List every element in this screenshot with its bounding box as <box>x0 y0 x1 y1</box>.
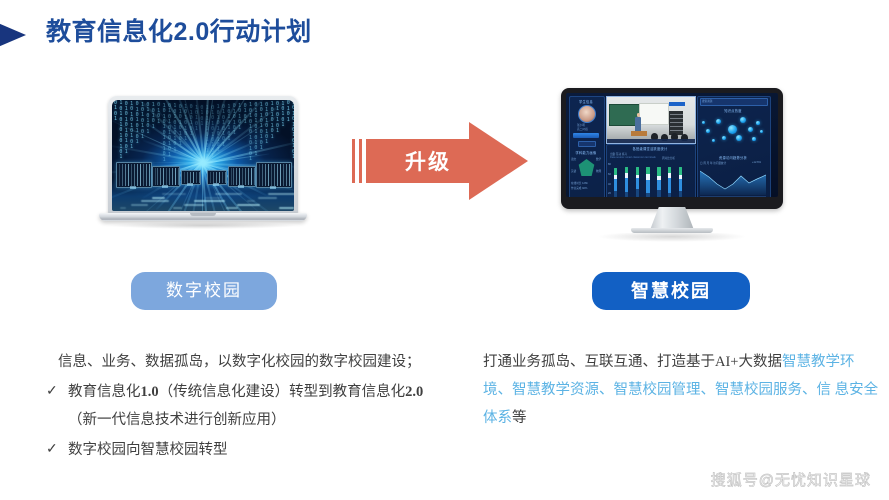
floor-streak <box>258 197 277 199</box>
mini-monitor-stand <box>238 185 244 188</box>
bubble-node <box>748 127 753 132</box>
floor-streak <box>120 207 126 209</box>
digit-column: 0 1 0 1 <box>113 101 118 123</box>
smart-campus-dashboard: 学生信息 张小明 高二(3)班 学科能力画像 语文 数学 英语 物理 在线时长 … <box>566 93 778 197</box>
left-description-block: 信息、业务、数据孤岛，以数字化校园的数字校园建设； ✓ 教育信息化1.0（传统信… <box>40 348 452 464</box>
right-tail-text: 等 <box>512 410 527 426</box>
digit-column: 1 0 1 0 1 <box>280 102 285 129</box>
stats-panel-title: 各班级课堂活跃度统计 <box>606 146 694 151</box>
bubble-node <box>740 117 746 123</box>
video-control-bar[interactable] <box>607 139 695 143</box>
video-desk <box>631 131 647 136</box>
stacked-bar <box>679 167 682 197</box>
bubble-node <box>706 129 710 133</box>
right-plain-text: 打通业务孤岛、互联互通、打造基于AI+大数据 <box>483 354 782 370</box>
bullet-1-part2: （传统信息化建设）转型到教育信息化 <box>159 384 406 400</box>
avatar-class-label: 高二(3)班 <box>577 127 588 131</box>
trend-area-chart <box>700 167 766 195</box>
trend-area-svg <box>700 167 766 195</box>
video-teacher-head <box>637 113 641 117</box>
stacked-bar <box>625 167 628 197</box>
monitor-device-smart-campus: 学生信息 张小明 高二(3)班 学科能力画像 语文 数学 英语 物理 在线时长 … <box>561 88 783 236</box>
video-equipment-rack <box>669 111 683 135</box>
laptop-lid: 0 1 0 1 1 0 1 0 1 0 1 0 1 0 1 0 1 0 1 0 … <box>108 96 298 215</box>
check-icon: ✓ <box>46 436 58 464</box>
mini-monitor-stand <box>213 183 219 186</box>
monitor-bezel: 学生信息 张小明 高二(3)班 学科能力画像 语文 数学 英语 物理 在线时长 … <box>561 88 783 209</box>
bullet-2-text: 数字校园向智慧校园转型 <box>68 442 228 458</box>
bubble-node <box>712 139 715 142</box>
page-title: 教育信息化2.0行动计划 <box>46 12 312 48</box>
bubble-chart-title: 知识点热度 <box>697 108 769 113</box>
mini-monitor-stand <box>162 185 168 188</box>
upgrade-arrow: 升级 <box>352 122 528 200</box>
label-smart-campus: 智慧校园 <box>592 272 750 310</box>
digit-column: 1 0 1 0 1 0 1 0 1 0 1 <box>291 101 294 160</box>
left-panel-secondary-button[interactable] <box>578 141 596 147</box>
screen-mini-monitor <box>152 166 180 187</box>
bubble-node <box>760 130 763 133</box>
screen-mini-monitor <box>116 162 152 188</box>
stats-axis-tick-1: 80 <box>608 163 611 166</box>
bubble-node <box>716 119 721 124</box>
arrow-stripe-1 <box>352 139 355 183</box>
stats-side-label: 周对比分析 <box>662 156 675 160</box>
laptop-device-digital-campus: 0 1 0 1 1 0 1 0 1 0 1 0 1 0 1 0 1 0 1 0 … <box>99 96 307 227</box>
mini-monitor-stand <box>270 186 276 189</box>
slide-title-bar: 教育信息化2.0行动计划 <box>0 12 889 58</box>
bubble-node <box>736 135 742 141</box>
digit-column: 1 0 1 0 1 0 1 0 1 0 1 <box>118 101 123 160</box>
avatar <box>578 105 596 123</box>
classroom-video-feed[interactable] <box>606 96 696 144</box>
video-teacher-body <box>635 117 641 131</box>
trend-legend: 日 周 月 年 访问量统计 <box>700 161 726 165</box>
stacked-bar <box>614 168 617 197</box>
search-placeholder: 搜索资源 <box>702 99 712 103</box>
radar-axis-label-right: 数学 <box>596 157 601 161</box>
trend-axis-x <box>700 196 766 197</box>
screen-mini-monitor <box>256 162 292 188</box>
check-icon: ✓ <box>46 378 58 406</box>
laptop-screen-artwork: 0 1 0 1 1 0 1 0 1 0 1 0 1 0 1 0 1 0 1 0 … <box>112 100 294 211</box>
title-arrow-icon <box>0 17 26 53</box>
digit-column: 0 1 0 1 <box>286 101 291 123</box>
floor-streak <box>131 204 148 206</box>
floor-streak <box>152 197 165 199</box>
arrow-head <box>469 122 528 200</box>
video-overlay-tag <box>669 102 685 106</box>
floor-streak <box>173 207 182 209</box>
radar-axis-label-bottom-right: 物理 <box>596 169 601 173</box>
trend-chart-title: 资源访问趋势分析 <box>697 155 769 160</box>
floor-streak <box>184 204 204 206</box>
bubble-node <box>728 125 737 134</box>
bubble-node <box>756 121 760 125</box>
bubble-node <box>752 137 756 141</box>
trend-value: +12.6% <box>752 161 761 164</box>
stacked-bar <box>646 167 649 197</box>
floor-streak <box>247 200 255 202</box>
radar-axis-label-bottom-left: 英语 <box>571 169 576 173</box>
left-panel-primary-button[interactable] <box>573 133 599 138</box>
mini-monitor-stand <box>187 183 193 186</box>
stats-subtitle: Data source: smart classroom terminals <box>610 156 656 159</box>
left-panel-title: 学生信息 <box>569 99 603 104</box>
laptop-shadow <box>111 222 295 229</box>
monitor-stand <box>650 207 694 230</box>
digit-column: 0 1 0 1 0 1 0 1 <box>135 102 140 145</box>
stacked-bar <box>668 167 671 197</box>
competency-chart-title: 学科能力画像 <box>569 150 603 155</box>
screen-mini-monitor <box>228 166 256 187</box>
bullet-1-part3: （新一代信息技术进行创新应用） <box>68 412 286 428</box>
floor-streak <box>205 197 221 199</box>
left-lead-line: 信息、业务、数据孤岛，以数字化校园的数字校园建设； <box>40 348 452 376</box>
monitor-shadow <box>597 233 747 242</box>
floor-streak <box>279 207 294 209</box>
stats-axis-tick-4: 20 <box>608 192 611 195</box>
floor-streak <box>226 207 238 209</box>
watermark: 搜狐号@无忧知识星球 <box>711 469 871 490</box>
stacked-bar <box>636 167 639 197</box>
right-description-block: 打通业务孤岛、互联互通、打造基于AI+大数据智慧教学环境、智慧教学资源、智慧校园… <box>483 348 883 432</box>
left-bullet-2: ✓ 数字校园向智慧校园转型 <box>40 436 452 464</box>
left-panel-footnote-1: 在线时长 126h <box>571 181 588 185</box>
laptop-notch <box>190 213 216 216</box>
bullet-1-bold1: 1.0 <box>141 384 159 400</box>
floor-streak <box>194 200 225 202</box>
left-bullet-1: ✓ 教育信息化1.0（传统信息化建设）转型到教育信息化2.0（新一代信息技术进行… <box>40 378 452 434</box>
stats-axis-tick-2: 60 <box>608 173 611 176</box>
digit-column: 1 0 1 0 1 0 1 0 1 <box>129 102 134 151</box>
arrow-stripe-2 <box>359 139 362 183</box>
bubble-node <box>702 121 705 124</box>
bullet-1-bold2: 2.0 <box>405 384 423 400</box>
arrow-label: 升级 <box>382 146 474 176</box>
stacked-bar <box>657 167 660 197</box>
label-digital-campus: 数字校园 <box>131 272 277 310</box>
floor-streak <box>141 200 169 202</box>
left-panel-footnote-2: 作业完成 92% <box>571 186 587 190</box>
mini-monitor-stand <box>130 186 136 189</box>
bullet-1-part1: 教育信息化 <box>68 384 141 400</box>
floor-streak <box>237 204 260 206</box>
radar-axis-label-left: 语文 <box>571 157 576 161</box>
stats-axis-tick-3: 40 <box>608 183 611 186</box>
bubble-node <box>722 136 726 140</box>
video-projection-screen <box>639 103 669 125</box>
